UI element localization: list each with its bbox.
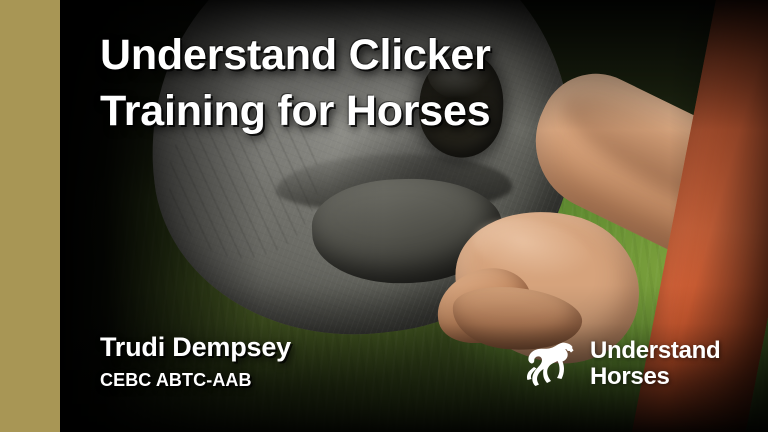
brand-logo-line-2: Horses	[590, 364, 720, 390]
text-layer: Understand Clicker Training for Horses T…	[0, 0, 768, 432]
title-slide: Understand Clicker Training for Horses T…	[0, 0, 768, 432]
brand-logo-line-1: Understand	[590, 338, 720, 364]
brand-logo: Understand Horses	[522, 338, 720, 389]
brand-logo-text: Understand Horses	[590, 338, 720, 389]
presenter-credentials: CEBC ABTC-AAB	[100, 370, 252, 391]
presenter-name: Trudi Dempsey	[100, 332, 291, 363]
title-line-2: Training for Horses	[100, 84, 620, 140]
title-line-1: Understand Clicker	[100, 28, 620, 84]
page-title: Understand Clicker Training for Horses	[100, 28, 620, 140]
galloping-horse-silhouette-icon	[522, 339, 578, 389]
